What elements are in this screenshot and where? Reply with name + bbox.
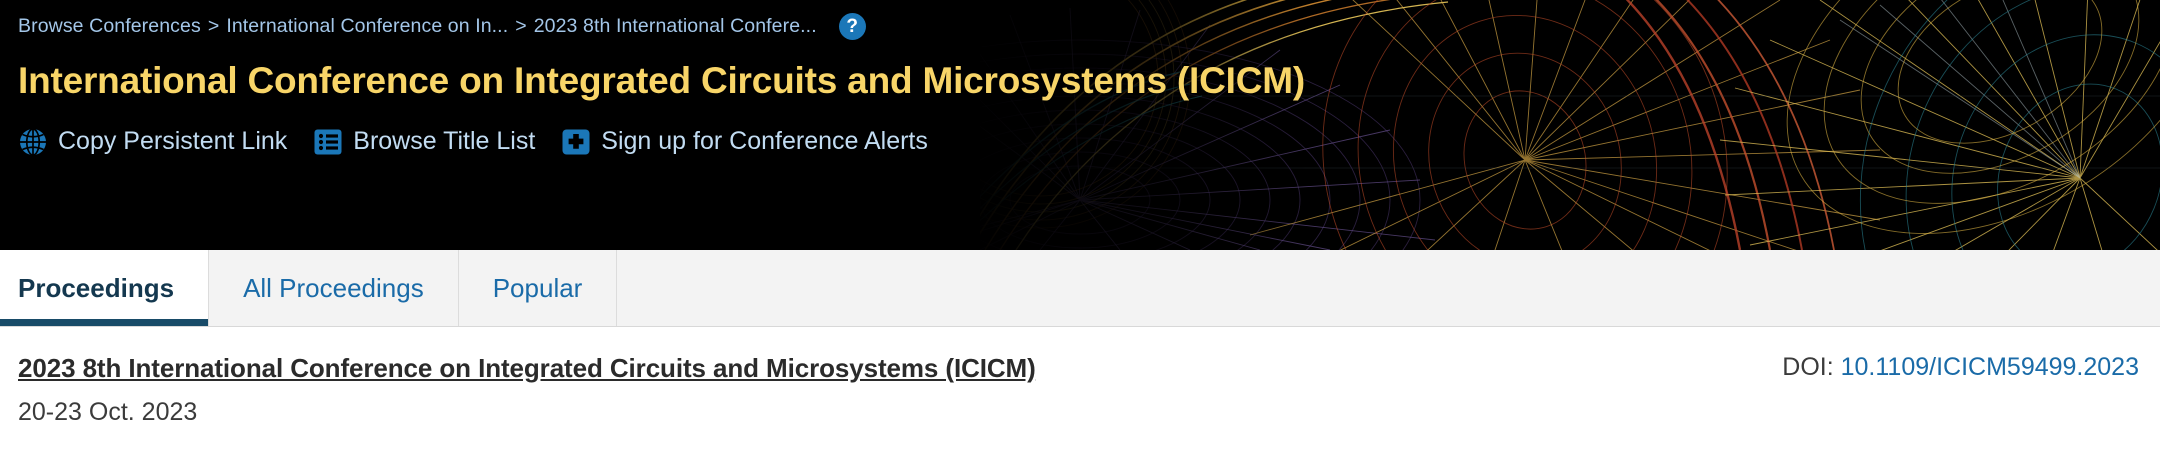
copy-persistent-link-label: Copy Persistent Link	[58, 127, 287, 156]
conference-alerts-signup-label: Sign up for Conference Alerts	[601, 127, 928, 156]
proceeding-title-link[interactable]: 2023 8th International Conference on Int…	[18, 353, 1036, 384]
globe-icon	[18, 127, 48, 157]
browse-title-list-label: Browse Title List	[353, 127, 535, 156]
doi-label: DOI:	[1782, 353, 1833, 381]
breadcrumb-browse-conferences[interactable]: Browse Conferences	[18, 15, 201, 38]
banner-action-links: Copy Persistent Link	[18, 127, 2160, 157]
page-title: International Conference on Integrated C…	[18, 60, 2160, 103]
tab-popular[interactable]: Popular	[459, 250, 618, 326]
copy-persistent-link-button[interactable]: Copy Persistent Link	[18, 127, 287, 157]
proceeding-doi: DOI: 10.1109/ICICM59499.2023	[1782, 353, 2142, 382]
proceeding-row: 2023 8th International Conference on Int…	[18, 353, 2142, 384]
proceedings-tabbar: Proceedings All Proceedings Popular	[0, 250, 2160, 327]
conference-alerts-signup-button[interactable]: Sign up for Conference Alerts	[561, 127, 928, 157]
conference-banner: Browse Conferences > International Confe…	[0, 0, 2160, 250]
tab-proceedings[interactable]: Proceedings	[0, 250, 209, 326]
tab-all-proceedings[interactable]: All Proceedings	[209, 250, 459, 326]
plus-square-icon	[561, 127, 591, 157]
breadcrumb-proceeding[interactable]: 2023 8th International Confere...	[534, 15, 817, 38]
browse-title-list-button[interactable]: Browse Title List	[313, 127, 535, 157]
doi-link[interactable]: 10.1109/ICICM59499.2023	[1841, 353, 2139, 381]
breadcrumb: Browse Conferences > International Confe…	[18, 0, 2160, 52]
breadcrumb-separator: >	[515, 15, 527, 38]
breadcrumb-separator: >	[208, 15, 220, 38]
proceeding-date: 20-23 Oct. 2023	[18, 398, 2142, 427]
proceedings-content: 2023 8th International Conference on Int…	[0, 327, 2160, 427]
list-icon	[313, 127, 343, 157]
breadcrumb-conference[interactable]: International Conference on In...	[226, 15, 508, 38]
help-question-icon[interactable]: ?	[839, 13, 866, 40]
